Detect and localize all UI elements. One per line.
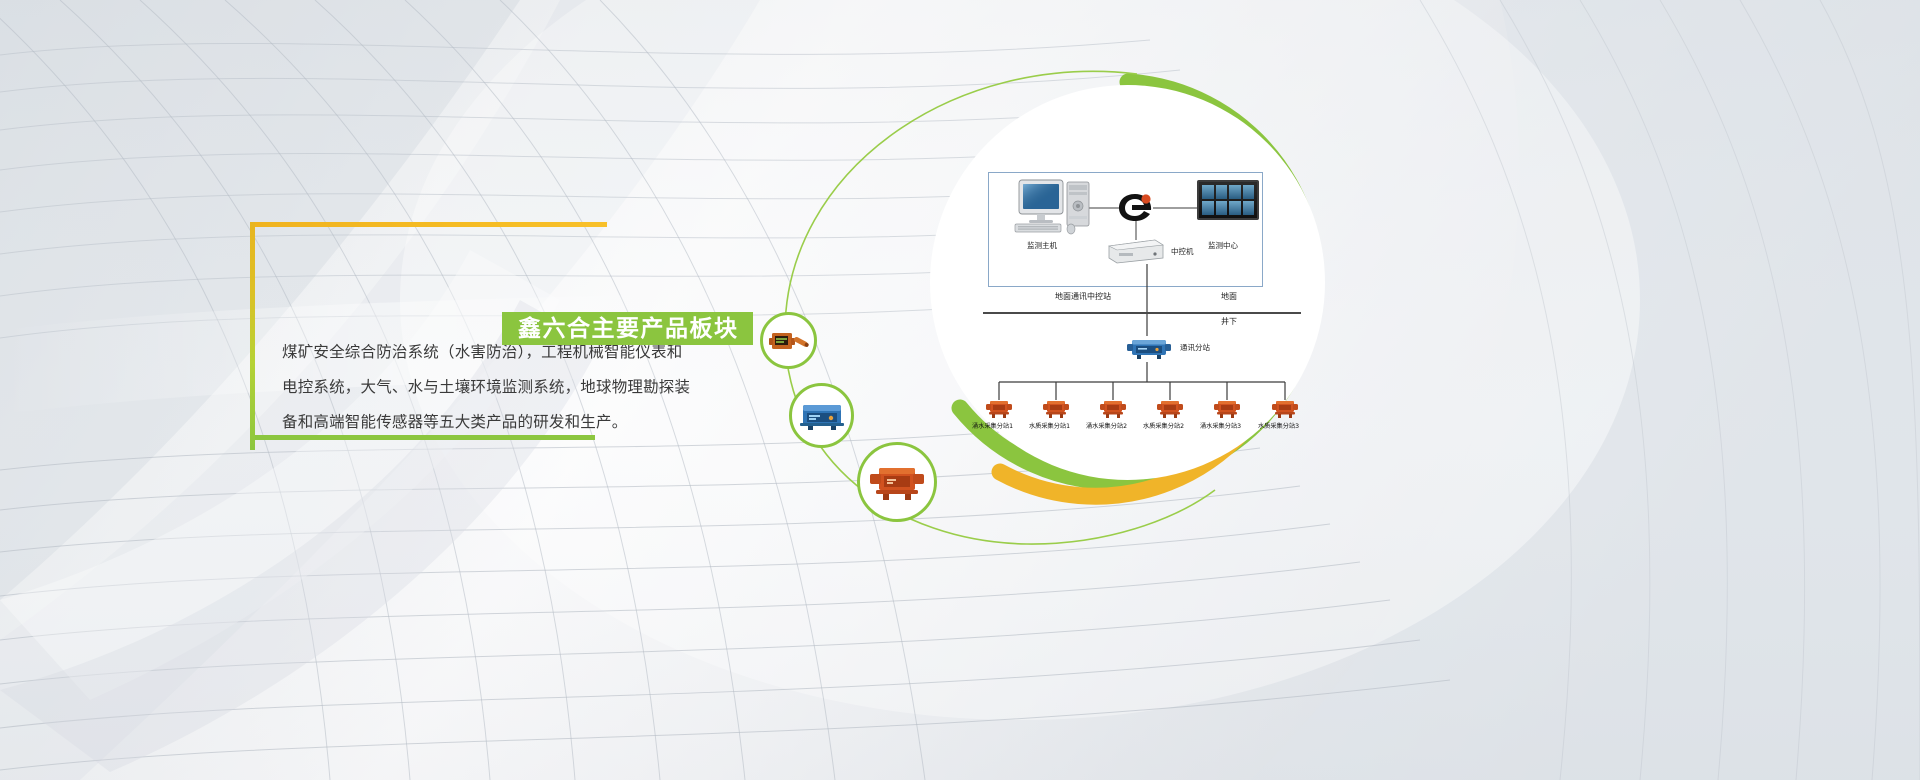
label-underground: 井下 (1221, 318, 1237, 326)
internet-cloud-icon (1115, 190, 1155, 226)
label-monitor-host: 监测主机 (1027, 242, 1057, 250)
label-collector-3: 涌水采集分站2 (1086, 424, 1127, 430)
label-collector-6: 水质采集分站3 (1258, 424, 1299, 430)
collector-icon-1 (986, 398, 1012, 420)
label-surface: 地面 (1221, 293, 1237, 301)
label-collector-4: 水质采集分站2 (1143, 424, 1184, 430)
monitor-host-icon (1011, 176, 1097, 238)
comm-substation-icon (1125, 335, 1173, 361)
banner-stage: 鑫六合主要产品板块 煤矿安全综合防治系统（水害防治），工程机械智能仪表和 电控系… (0, 0, 1920, 780)
central-controller-icon (1105, 238, 1167, 264)
description-line-3: 备和高端智能传感器等五大类产品的研发和生产。 (282, 405, 712, 440)
collector-icon-6 (1272, 398, 1298, 420)
ground-divider-line (983, 312, 1301, 314)
label-collector-5: 涌水采集分站3 (1200, 424, 1241, 430)
collector-icon-3 (1100, 398, 1126, 420)
label-surface-comm-station: 地面通讯中控站 (1055, 293, 1111, 301)
section-title-banner: 鑫六合主要产品板块 (502, 312, 753, 345)
collector-icon-5 (1214, 398, 1240, 420)
orange-device-large-icon (867, 460, 927, 504)
collector-icon-2 (1043, 398, 1069, 420)
badge-orange-device-large (857, 442, 937, 522)
badge-blue-device (789, 383, 854, 448)
collector-icon-4 (1157, 398, 1183, 420)
label-comm-substation: 通讯分站 (1180, 344, 1210, 352)
section-description: 煤矿安全综合防治系统（水害防治），工程机械智能仪表和 电控系统，大气、水与土壤环… (282, 335, 712, 440)
description-line-2: 电控系统，大气、水与土壤环境监测系统，地球物理勘探装 (282, 370, 712, 405)
monitor-center-icon (1197, 180, 1259, 220)
label-collector-2: 水质采集分站1 (1029, 424, 1070, 430)
label-collector-1: 涌水采集分站1 (972, 424, 1013, 430)
system-diagram-graphic: 监测主机 监测中心 中控机 地面通讯中控站 地面 井下 (745, 60, 1385, 580)
diagram-schematic: 监测主机 监测中心 中控机 地面通讯中控站 地面 井下 (975, 160, 1305, 470)
blue-device-icon (798, 399, 846, 433)
label-monitor-center: 监测中心 (1208, 242, 1238, 250)
orange-device-small-icon (768, 326, 810, 356)
label-central-controller: 中控机 (1171, 248, 1194, 256)
badge-orange-device-small (760, 312, 817, 369)
section-title-text: 鑫六合主要产品板块 (518, 317, 739, 340)
